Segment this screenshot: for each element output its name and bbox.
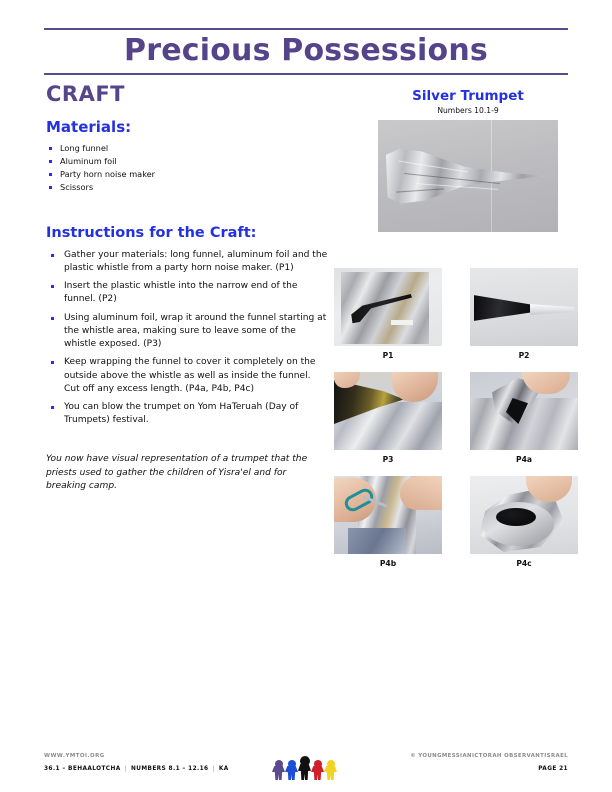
foil-sheet: [341, 272, 429, 344]
photo-caption: P4c: [470, 558, 578, 570]
logo-figure-body: [298, 764, 311, 780]
list-item: You can blow the trumpet on Yom HaTeruah…: [46, 401, 328, 427]
logo-figure-red: [311, 760, 324, 780]
photo-caption: P3: [334, 454, 442, 466]
logo-figure-purple: [272, 760, 285, 780]
photo-caption: P4a: [470, 454, 578, 466]
photo-cell-p4a: P4a: [470, 372, 578, 466]
footer-left: WWW.YMTOI.ORG 36.1 – BEHAALOTCHA|NUMBERS…: [44, 752, 229, 775]
header-rule-bottom: [44, 73, 568, 75]
footer-copyright: © YOUNGMESSIANICTORAH OBSERVANTISRAEL: [410, 752, 568, 761]
foil-cone-shape: [386, 148, 548, 204]
step-photo-p1: [334, 268, 442, 346]
photo-row: P3 P4a: [334, 372, 578, 466]
logo-figure-body: [324, 766, 337, 780]
list-item: Aluminum foil: [46, 156, 328, 168]
logo-figure-body: [285, 766, 298, 780]
foil-sheet: [348, 528, 406, 554]
list-item: Using aluminum foil, wrap it around the …: [46, 312, 328, 352]
footer-page-number: PAGE 21: [410, 764, 568, 775]
page-title: Precious Possessions: [44, 30, 568, 73]
materials-heading: Materials:: [46, 118, 328, 137]
step-photo-p2: [470, 268, 578, 346]
craft-heading: CRAFT: [46, 82, 328, 106]
footer-separator: |: [208, 766, 218, 772]
photo-cell-p4c: P4c: [470, 476, 578, 570]
logo-figure-body: [311, 766, 324, 780]
footer-website-url[interactable]: WWW.YMTOI.ORG: [44, 752, 229, 761]
footer-passage: NUMBERS 8.1 – 12.16: [131, 766, 209, 772]
photo-caption: P4b: [334, 558, 442, 570]
footer-right: © YOUNGMESSIANICTORAH OBSERVANTISRAEL PA…: [410, 752, 568, 775]
list-item: Gather your materials: long funnel, alum…: [46, 249, 328, 275]
list-item: Scissors: [46, 182, 328, 194]
logo-figure-yellow: [324, 760, 337, 780]
scripture-reference: Numbers 10.1-9: [378, 105, 558, 116]
footer-separator: |: [121, 766, 131, 772]
list-item: Keep wrapping the funnel to cover it com…: [46, 356, 328, 396]
materials-list: Long funnel Aluminum foil Party horn noi…: [46, 143, 328, 194]
silver-trumpet-title: Silver Trumpet: [378, 88, 558, 104]
right-column: Silver Trumpet Numbers 10.1-9: [378, 88, 558, 232]
step-photo-p4a: [470, 372, 578, 450]
footer-code: KA: [219, 766, 229, 772]
footer-lesson: 36.1 – BEHAALOTCHA: [44, 766, 121, 772]
closing-note: You now have visual representation of a …: [46, 453, 318, 493]
page-footer: WWW.YMTOI.ORG 36.1 – BEHAALOTCHA|NUMBERS…: [44, 752, 568, 788]
trumpet-opening: [496, 508, 536, 526]
list-item: Party horn noise maker: [46, 169, 328, 181]
photo-caption: P2: [470, 350, 578, 362]
list-item: Insert the plastic whistle into the narr…: [46, 280, 328, 306]
hand: [400, 476, 442, 510]
photo-row: P1 P2: [334, 268, 578, 362]
photo-row: P4b P4c: [334, 476, 578, 570]
ymtoi-figures-logo: [272, 748, 340, 780]
step-photo-p4b: [334, 476, 442, 554]
logo-figure-body: [272, 766, 285, 780]
page-header: Precious Possessions: [44, 28, 568, 75]
photo-cell-p1: P1: [334, 268, 442, 362]
instructions-list: Gather your materials: long funnel, alum…: [46, 249, 328, 427]
white-whistle: [391, 320, 413, 325]
left-column: CRAFT Materials: Long funnel Aluminum fo…: [46, 82, 328, 494]
photo-cell-p4b: P4b: [334, 476, 442, 570]
logo-figure-black: [298, 756, 311, 780]
silver-trumpet-photo: [378, 120, 558, 232]
photo-cell-p2: P2: [470, 268, 578, 362]
step-photo-p3: [334, 372, 442, 450]
instructions-heading: Instructions for the Craft:: [46, 224, 328, 242]
photo-cell-p3: P3: [334, 372, 442, 466]
list-item: Long funnel: [46, 143, 328, 155]
cone-body: [386, 148, 548, 204]
step-photo-grid: P1 P2 P3: [334, 268, 578, 580]
step-photo-p4c: [470, 476, 578, 554]
photo-caption: P1: [334, 350, 442, 362]
footer-lesson-meta: 36.1 – BEHAALOTCHA|NUMBERS 8.1 – 12.16|K…: [44, 764, 229, 775]
logo-figure-blue: [285, 760, 298, 780]
